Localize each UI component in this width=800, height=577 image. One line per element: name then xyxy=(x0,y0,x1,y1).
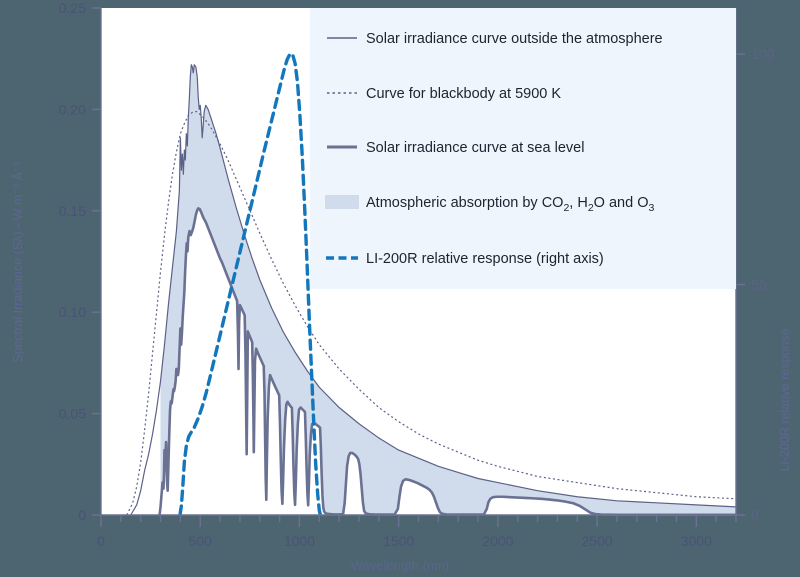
y-tick-label-left: 0.10 xyxy=(59,304,86,320)
x-tick-label: 0 xyxy=(97,533,105,549)
x-tick-label: 2000 xyxy=(482,533,513,549)
x-tick-label: 1500 xyxy=(383,533,414,549)
y-tick-label-left: 0.15 xyxy=(59,203,86,219)
legend: Solar irradiance curve outside the atmos… xyxy=(310,8,736,289)
y-tick-label-left: 0.25 xyxy=(59,0,86,16)
legend-item-sea-level[interactable]: Solar irradiance curve at sea level xyxy=(327,140,584,156)
legend-marker-swatch xyxy=(325,195,359,209)
legend-label-sea-level: Solar irradiance curve at sea level xyxy=(366,140,584,156)
legend-label-li200r: LI-200R relative response (right axis) xyxy=(366,251,604,267)
y-tick-label-left: 0.20 xyxy=(59,101,86,117)
solar-spectrum-chart: 00.050.100.150.200.250501000500100015002… xyxy=(0,0,800,577)
x-tick-label: 2500 xyxy=(582,533,613,549)
x-tick-label: 1000 xyxy=(284,533,315,549)
legend-item-li200r[interactable]: LI-200R relative response (right axis) xyxy=(326,251,604,267)
y-tick-label-right: 0 xyxy=(751,507,759,523)
y-tick-label-right: 50 xyxy=(751,277,767,293)
y-tick-label-left: 0 xyxy=(78,507,86,523)
y-tick-label-right: 100 xyxy=(751,46,775,62)
y-axis-left-title: Spectral Irradiance (Sλ) - W m⁻² Å⁻¹ xyxy=(10,161,25,362)
y-tick-label-left: 0.05 xyxy=(59,406,86,422)
legend-label-extraterrestrial: Solar irradiance curve outside the atmos… xyxy=(366,31,663,47)
x-axis-title: Wavelength (nm) xyxy=(351,558,450,573)
x-tick-label: 500 xyxy=(189,533,213,549)
y-axis-right-title: LI-200R relative response xyxy=(778,328,792,471)
legend-item-extraterrestrial[interactable]: Solar irradiance curve outside the atmos… xyxy=(327,31,663,47)
x-tick-label: 3000 xyxy=(681,533,712,549)
legend-label-blackbody: Curve for blackbody at 5900 K xyxy=(366,86,561,102)
